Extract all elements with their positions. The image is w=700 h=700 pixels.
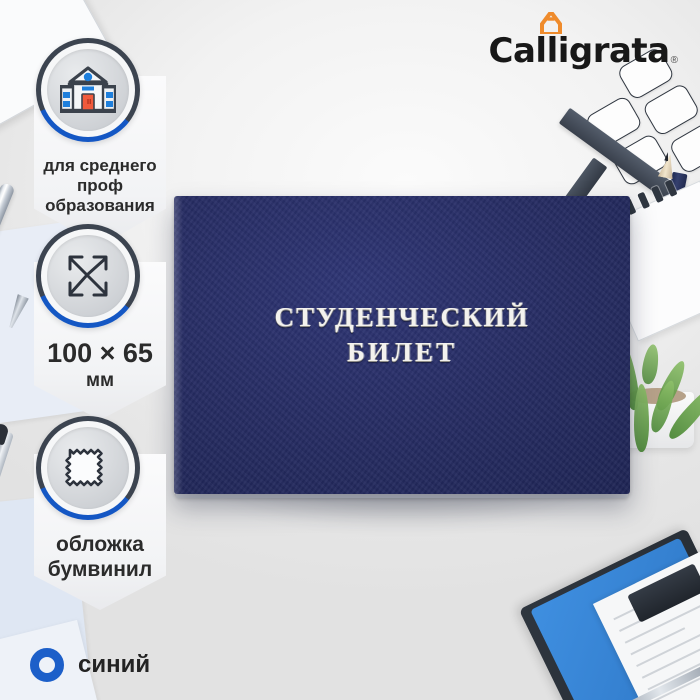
color-swatch: синий xyxy=(30,648,150,682)
product-photo-scene: Calligrata ® СТУДЕНЧЕСКИЙ БИЛЕТ xyxy=(0,0,700,700)
badge-label-line-1: для среднего xyxy=(30,156,170,176)
badge-ring xyxy=(36,416,140,520)
badge-label-line-1: обложка xyxy=(30,532,170,557)
badge-label-line-2: проф xyxy=(30,176,170,196)
color-ring-icon xyxy=(30,648,64,682)
card-title-line-1: СТУДЕНЧЕСКИЙ xyxy=(174,300,630,335)
badge-label-line-2: бумвинил xyxy=(30,557,170,582)
registered-mark: ® xyxy=(671,54,678,68)
badge-label: 100 × 65 мм xyxy=(30,340,170,394)
badge-label-line-1: 100 × 65 xyxy=(30,340,170,367)
pencil-icon xyxy=(538,12,564,34)
badge-label-line-2: мм xyxy=(30,367,170,394)
card-embossed-title: СТУДЕНЧЕСКИЙ БИЛЕТ xyxy=(174,300,630,370)
badge-icon-plate xyxy=(47,49,129,131)
color-name-label: синий xyxy=(78,651,150,679)
badge-label-line-3: образования xyxy=(30,196,170,216)
badge-icon-plate xyxy=(47,235,129,317)
expand-arrows-icon xyxy=(63,251,113,301)
badge-ring xyxy=(36,224,140,328)
badge-icon-plate xyxy=(47,427,129,509)
brand-logo: Calligrata ® xyxy=(489,22,678,68)
school-building-icon xyxy=(60,65,116,115)
brand-name: Calligrata xyxy=(489,34,670,68)
card-title-line-2: БИЛЕТ xyxy=(174,335,630,370)
badge-label: обложка бумвинил xyxy=(30,532,170,582)
badge-ring xyxy=(36,38,140,142)
badge-label: для среднего проф образования xyxy=(30,156,170,216)
fabric-swatch-icon xyxy=(63,443,113,493)
